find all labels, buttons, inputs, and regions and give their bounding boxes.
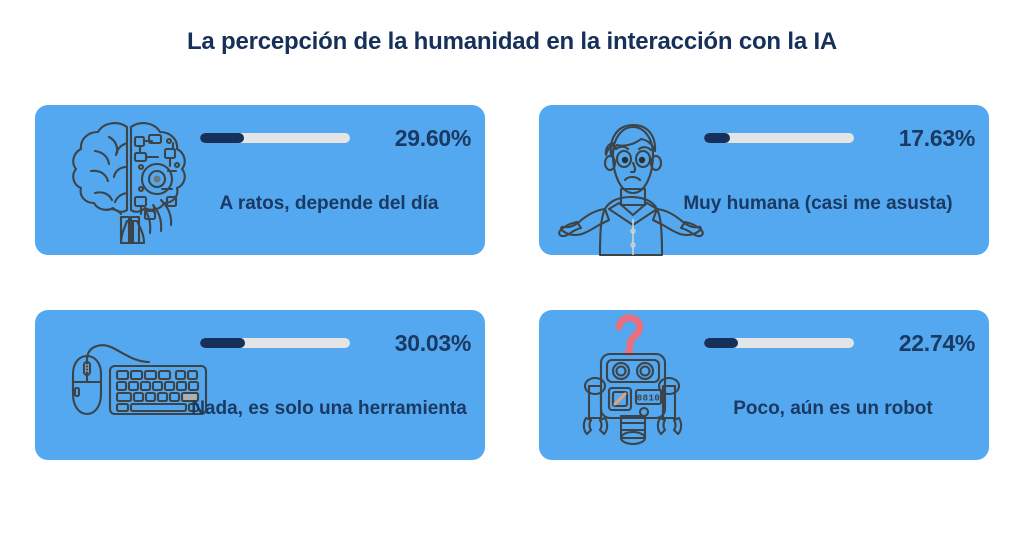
progress-bar-track (200, 338, 350, 348)
progress-bar-fill (704, 133, 730, 143)
option-label: Muy humana (casi me asusta) (659, 193, 977, 216)
option-label: A ratos, depende del día (185, 193, 473, 216)
progress-bar-fill (200, 133, 244, 143)
stat-card-poco-robot[interactable]: 0810 22.74% Poco, aún es un robot (539, 310, 989, 460)
progress-bar-track (200, 133, 350, 143)
progress-row: 30.03% (200, 328, 471, 358)
robot-question-icon: 0810 (553, 310, 713, 460)
brain-ai-icon (49, 105, 209, 255)
percent-value: 29.60% (395, 125, 471, 152)
progress-row: 29.60% (200, 123, 471, 153)
option-label: Nada, es solo una herramienta (185, 398, 473, 421)
option-label: Poco, aún es un robot (689, 398, 977, 421)
progress-bar-fill (704, 338, 738, 348)
percent-value: 17.63% (899, 125, 975, 152)
stat-card-a-ratos[interactable]: 29.60% A ratos, depende del día (35, 105, 485, 255)
progress-bar-track (704, 133, 854, 143)
progress-row: 22.74% (704, 328, 975, 358)
progress-bar-fill (200, 338, 245, 348)
percent-value: 30.03% (395, 330, 471, 357)
mouse-keyboard-icon (49, 310, 209, 460)
svg-text:0810: 0810 (637, 394, 661, 404)
stat-card-muy-humana[interactable]: 17.63% Muy humana (casi me asusta) (539, 105, 989, 255)
progress-bar-track (704, 338, 854, 348)
shrugging-man-icon (553, 105, 713, 255)
stats-card-grid: 29.60% A ratos, depende del día (35, 105, 989, 460)
stat-card-nada-herramienta[interactable]: 30.03% Nada, es solo una herramienta (35, 310, 485, 460)
page-title: La percepción de la humanidad en la inte… (0, 28, 1024, 56)
percent-value: 22.74% (899, 330, 975, 357)
question-mark-glyph (619, 318, 640, 356)
progress-row: 17.63% (704, 123, 975, 153)
